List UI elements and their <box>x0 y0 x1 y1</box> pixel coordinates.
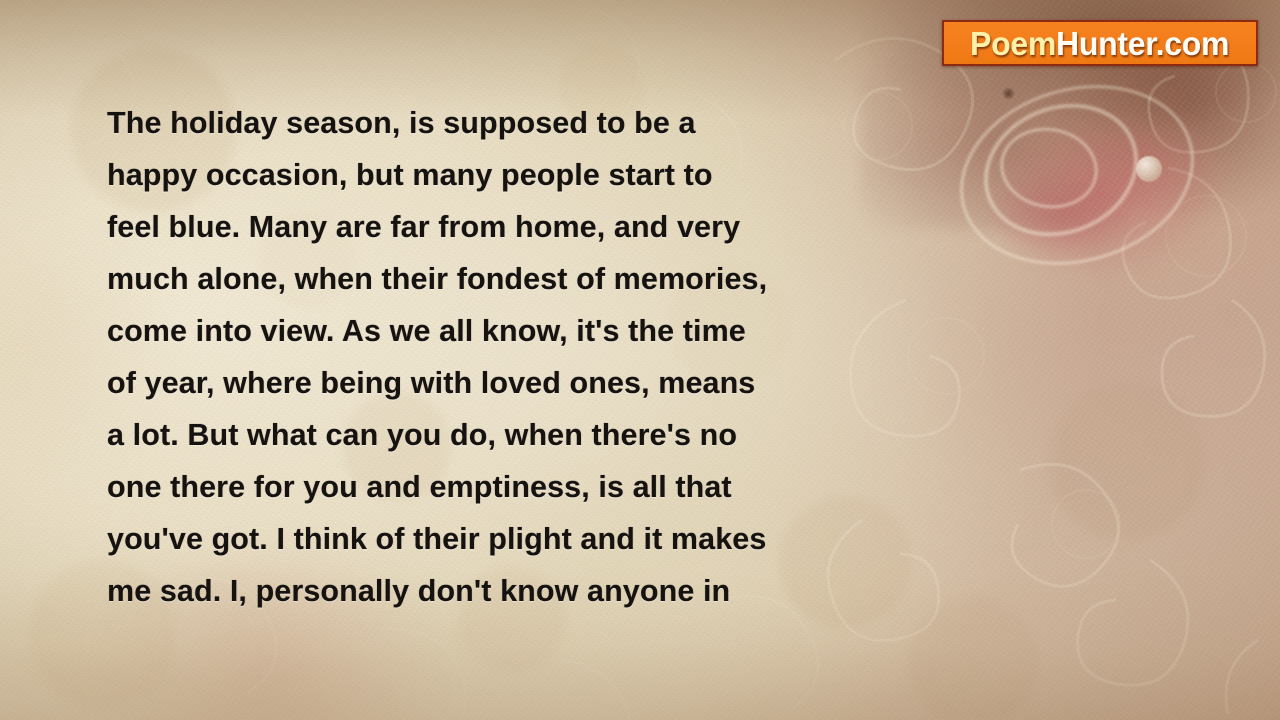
poem-line: feel blue. Many are far from home, and v… <box>107 201 867 253</box>
logo-word-hunter: Hunter.com <box>1056 25 1229 62</box>
poem-line: me sad. I, personally don't know anyone … <box>107 565 867 617</box>
video-frame: The holiday season, is supposed to be a … <box>0 0 1280 720</box>
poem-line: a lot. But what can you do, when there's… <box>107 409 867 461</box>
poem-line: The holiday season, is supposed to be a <box>107 97 867 149</box>
poem-line: come into view. As we all know, it's the… <box>107 305 867 357</box>
poem-line: of year, where being with loved ones, me… <box>107 357 867 409</box>
poem-line: you've got. I think of their plight and … <box>107 513 867 565</box>
poemhunter-logo[interactable]: PoemHunter.com <box>942 20 1258 66</box>
poem-text-block: The holiday season, is supposed to be a … <box>107 97 867 617</box>
logo-word-poem: Poem <box>970 25 1056 62</box>
poem-line: happy occasion, but many people start to <box>107 149 867 201</box>
poem-line: much alone, when their fondest of memori… <box>107 253 867 305</box>
poem-line: one there for you and emptiness, is all … <box>107 461 867 513</box>
logo-wordmark: PoemHunter.com <box>970 27 1229 60</box>
